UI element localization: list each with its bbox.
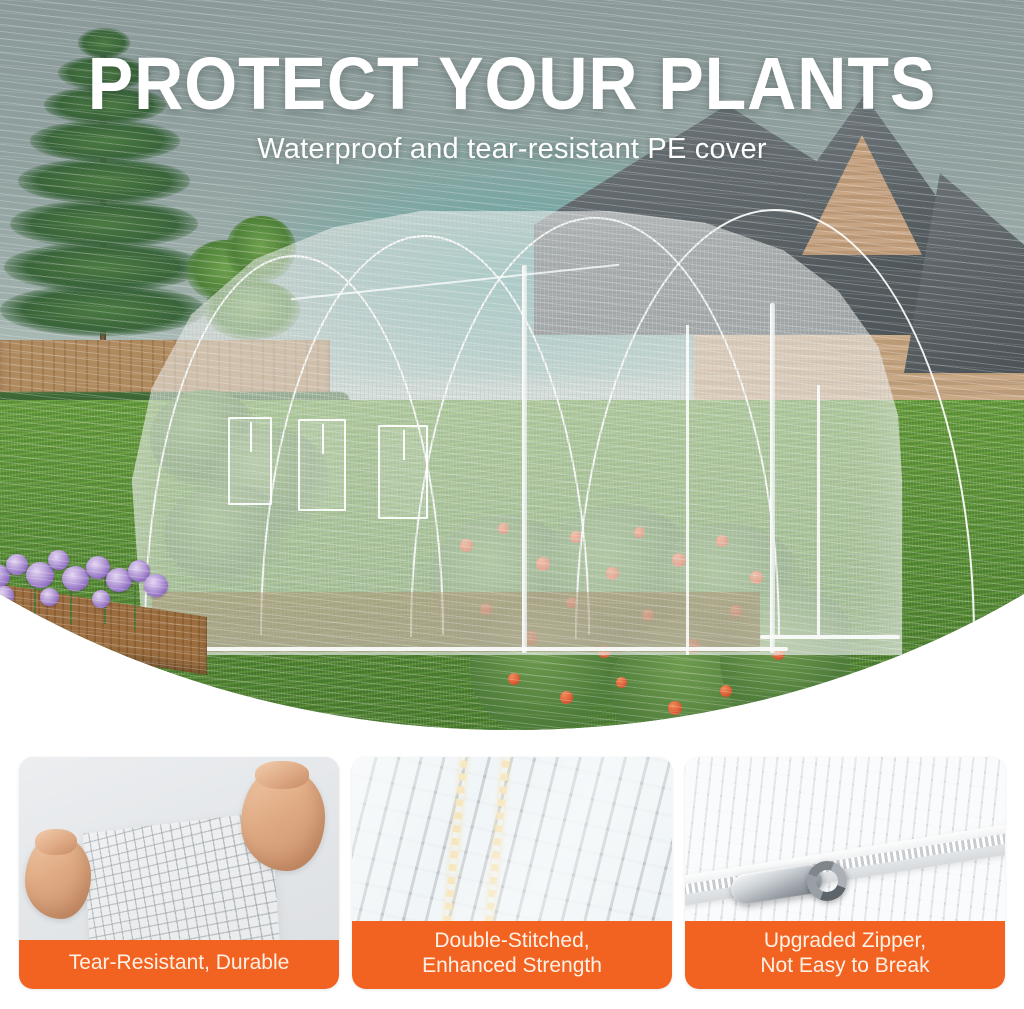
left-thumb bbox=[35, 829, 77, 855]
greenhouse-base-rail bbox=[760, 635, 900, 639]
feature-card-upgraded-zipper[interactable]: Upgraded Zipper, Not Easy to Break bbox=[685, 757, 1005, 989]
feature-card-double-stitched[interactable]: Double-Stitched, Enhanced Strength bbox=[352, 757, 672, 989]
roll-up-window[interactable] bbox=[378, 425, 428, 519]
caption-line: Not Easy to Break bbox=[693, 954, 997, 979]
right-thumb bbox=[255, 761, 309, 789]
caption-line: Enhanced Strength bbox=[360, 954, 664, 979]
caption-line: Tear-Resistant, Durable bbox=[27, 951, 331, 976]
tunnel-greenhouse bbox=[120, 195, 910, 655]
page-subtitle: Waterproof and tear-resistant PE cover bbox=[0, 133, 1024, 166]
roll-up-window[interactable] bbox=[228, 417, 272, 505]
purple-flowers bbox=[0, 548, 172, 628]
caption-line: Double-Stitched, bbox=[360, 929, 664, 954]
hero-banner: PROTECT YOUR PLANTS Waterproof and tear-… bbox=[0, 0, 1024, 730]
hero-text-block: PROTECT YOUR PLANTS Waterproof and tear-… bbox=[0, 48, 1024, 166]
greenhouse-center-post bbox=[522, 265, 527, 653]
greenhouse-post bbox=[770, 303, 775, 653]
feature-caption-double-stitched: Double-Stitched, Enhanced Strength bbox=[352, 921, 672, 989]
feature-card-tear-resistant[interactable]: Tear-Resistant, Durable bbox=[19, 757, 339, 989]
caption-line: Upgraded Zipper, bbox=[693, 929, 997, 954]
door-zipper-seam[interactable] bbox=[686, 325, 689, 655]
cover-lower-panel bbox=[152, 592, 760, 652]
feature-card-row: Tear-Resistant, Durable Double-Stitched,… bbox=[0, 757, 1024, 997]
page-title: PROTECT YOUR PLANTS bbox=[41, 48, 983, 119]
feature-caption-tear-resistant: Tear-Resistant, Durable bbox=[19, 940, 339, 989]
feature-caption-upgraded-zipper: Upgraded Zipper, Not Easy to Break bbox=[685, 921, 1005, 989]
side-zipper-seam[interactable] bbox=[817, 385, 820, 635]
greenhouse-base-rail bbox=[148, 647, 788, 651]
roll-up-window[interactable] bbox=[298, 419, 346, 511]
